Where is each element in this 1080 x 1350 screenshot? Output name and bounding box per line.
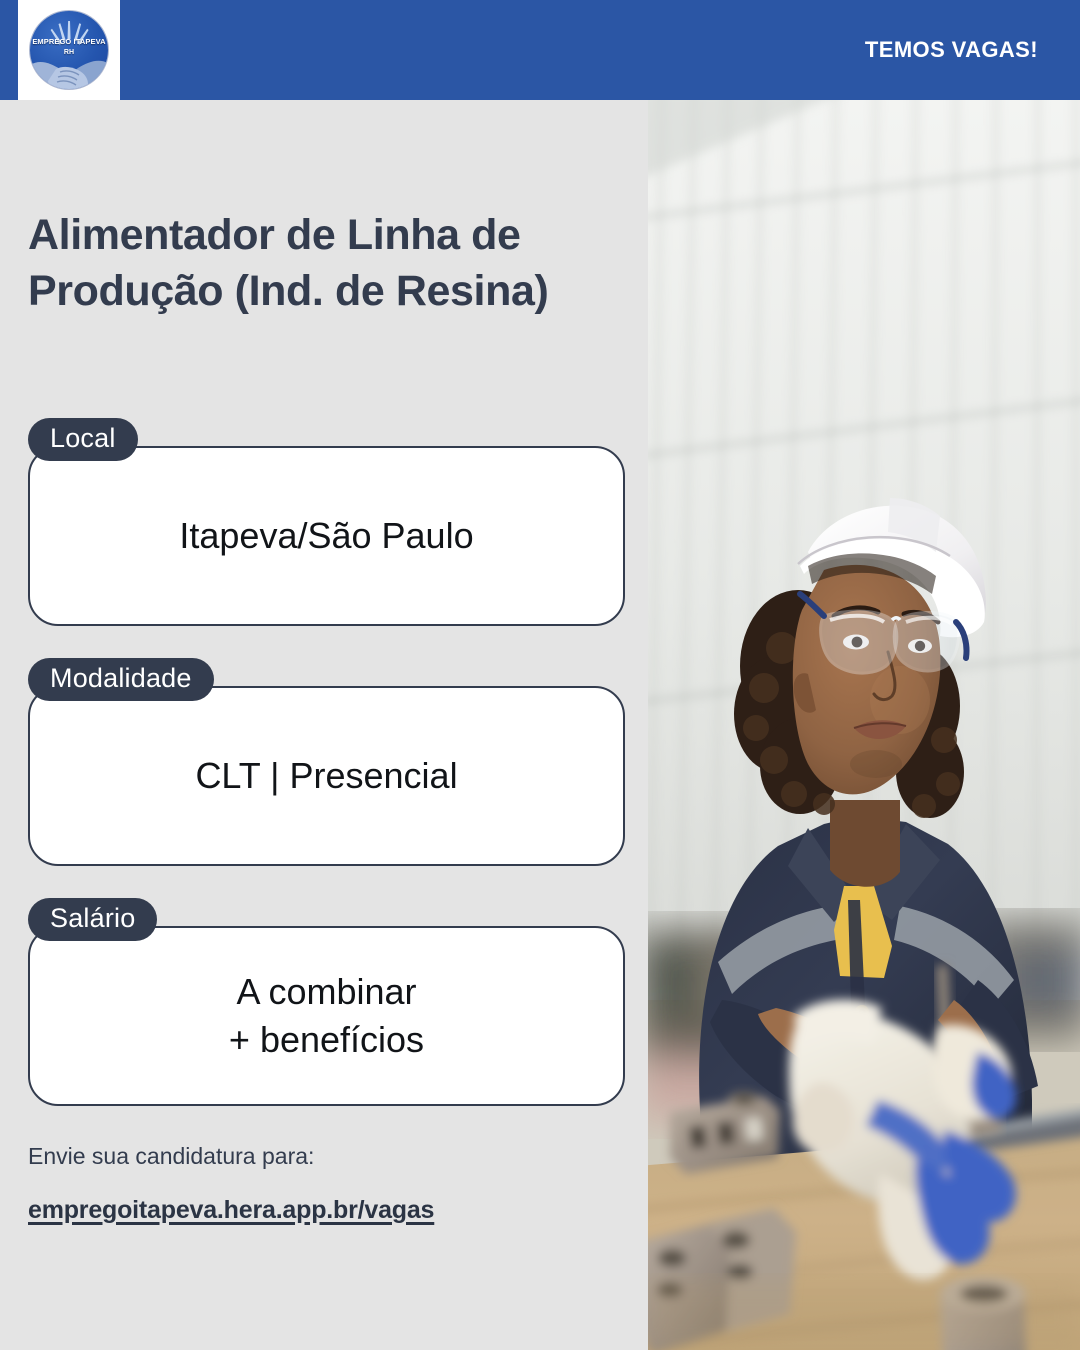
card-label-modalidade: Modalidade bbox=[28, 658, 214, 701]
card-value-local: Itapeva/São Paulo bbox=[159, 512, 493, 560]
card-body-local: Itapeva/São Paulo bbox=[28, 446, 625, 626]
company-logo: EMPREGO ITAPEVA RH bbox=[18, 0, 120, 100]
card-value-salario: A combinar + benefícios bbox=[209, 968, 444, 1064]
application-url-link[interactable]: empregoitapeva.hera.app.br/vagas bbox=[28, 1196, 434, 1225]
job-posting-page: EMPREGO ITAPEVA RH TEMOS VAGAS! Alimenta… bbox=[0, 0, 1080, 1350]
logo-line-2: RH bbox=[32, 48, 105, 58]
logo-circle: EMPREGO ITAPEVA RH bbox=[30, 11, 108, 89]
header-bar: EMPREGO ITAPEVA RH TEMOS VAGAS! bbox=[0, 0, 1080, 100]
card-value-line: Itapeva/São Paulo bbox=[179, 512, 473, 560]
footer: Envie sua candidatura para: empregoitape… bbox=[28, 1142, 608, 1225]
logo-line-1: EMPREGO ITAPEVA bbox=[32, 37, 105, 46]
content-column: Alimentador de Linha de Produção (Ind. d… bbox=[0, 100, 648, 1350]
card-value-modalidade: CLT | Presencial bbox=[175, 752, 477, 800]
card-label-salario: Salário bbox=[28, 898, 157, 941]
application-instruction: Envie sua candidatura para: bbox=[28, 1142, 608, 1172]
card-value-line: CLT | Presencial bbox=[195, 752, 457, 800]
card-value-line: + benefícios bbox=[229, 1016, 424, 1064]
worker-photo bbox=[648, 100, 1080, 1350]
page-title: Alimentador de Linha de Produção (Ind. d… bbox=[28, 208, 588, 320]
card-label-local: Local bbox=[28, 418, 138, 461]
card-value-line: A combinar bbox=[229, 968, 424, 1016]
logo-text: EMPREGO ITAPEVA RH bbox=[32, 37, 105, 58]
header-tagline: TEMOS VAGAS! bbox=[865, 37, 1038, 63]
card-body-salario: A combinar + benefícios bbox=[28, 926, 625, 1106]
card-body-modalidade: CLT | Presencial bbox=[28, 686, 625, 866]
